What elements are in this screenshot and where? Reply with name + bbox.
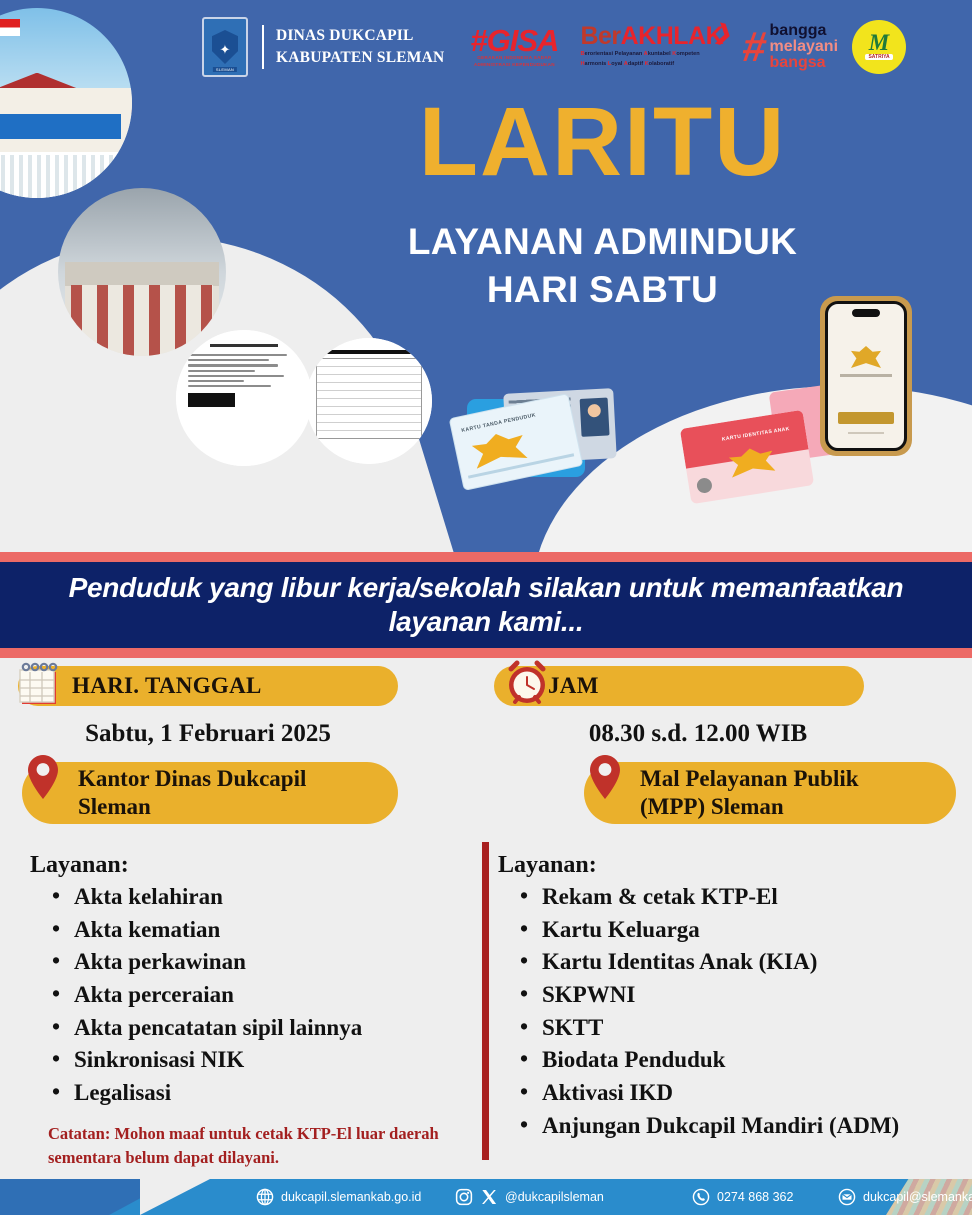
berakhlak-main: AKHLAK xyxy=(621,22,724,50)
gisa-wordmark: #GISA xyxy=(470,26,558,55)
phone-text: 0274 868 362 xyxy=(717,1190,793,1204)
list-item: Akta perkawinan xyxy=(30,946,478,979)
location-name-line-2: Sleman xyxy=(78,793,306,821)
time-label: JAM xyxy=(548,673,599,699)
berakhlak-values-1: Berorientasi Pelayanan Akuntabel Kompete… xyxy=(580,50,723,59)
sleman-identity: ✦ SLEMAN DINAS DUKCAPIL KABUPATEN SLEMAN xyxy=(202,17,444,77)
services-list: Akta kelahiran Akta kematian Akta perkaw… xyxy=(30,881,478,1110)
poster-title: LARITU xyxy=(330,96,875,188)
garuda-emblem-icon xyxy=(470,429,527,469)
list-item: Rekam & cetak KTP-El xyxy=(498,881,972,914)
date-row: HARI. TANGGAL xyxy=(8,660,478,712)
list-item: Kartu Identitas Anak (KIA) xyxy=(498,946,972,979)
hero-section: ✦ SLEMAN DINAS DUKCAPIL KABUPATEN SLEMAN… xyxy=(0,0,972,556)
map-pin-icon xyxy=(26,754,60,800)
banner-stripe-top xyxy=(0,552,972,562)
org-line-1: DINAS DUKCAPIL xyxy=(276,25,444,47)
calendar-icon xyxy=(16,660,62,708)
footer-phone[interactable]: 0274 868 362 xyxy=(692,1179,793,1215)
satriya-monogram: M xyxy=(869,34,889,52)
globe-icon xyxy=(256,1188,274,1206)
banner-stripe-bottom xyxy=(0,648,972,658)
services-list: Rekam & cetak KTP-El Kartu Keluarga Kart… xyxy=(498,881,972,1142)
footer-contact-bar: dukcapil.slemankab.go.id @dukcapilsleman… xyxy=(0,1179,972,1215)
footer-website[interactable]: dukcapil.slemankab.go.id xyxy=(256,1179,421,1215)
gisa-tagline-2: ADMINISTRASI KEPENDUDUKAN xyxy=(470,62,558,69)
satriya-seal-logo: M SATRIYA xyxy=(852,20,906,74)
banner-line-2: layanan kami... xyxy=(36,605,936,639)
column-mpp: JAM 08.30 s.d. 12.00 WIB Mal Pelayanan P… xyxy=(484,660,972,1142)
bangga-melayani-bangsa-logo: # bangga melayani bangsa xyxy=(743,23,838,72)
gisa-tagline-1: GERAKAN INDONESIA SADAR xyxy=(470,55,558,62)
ktp-note: Catatan: Mohon maaf untuk cetak KTP-El l… xyxy=(30,1122,478,1170)
map-pin-icon xyxy=(588,754,622,800)
bangga-line-2: melayani xyxy=(770,39,838,55)
sleman-crest-icon: ✦ SLEMAN xyxy=(202,17,248,77)
footer-wedge-cut xyxy=(140,1179,210,1215)
list-item: Akta kelahiran xyxy=(30,881,478,914)
garuda-emblem-icon xyxy=(851,346,881,368)
berakhlak-wordmark: BerAKHLAK xyxy=(580,25,723,49)
instagram-icon xyxy=(455,1188,473,1206)
list-item: Aktivasi IKD xyxy=(498,1077,972,1110)
list-item: Akta pencatatan sipil lainnya xyxy=(30,1012,478,1045)
banner-text: Penduduk yang libur kerja/sekolah silaka… xyxy=(36,571,936,639)
list-item: Akta perceraian xyxy=(30,979,478,1012)
gisa-logo: #GISA GERAKAN INDONESIA SADAR ADMINISTRA… xyxy=(470,26,558,69)
location-row-mpp: Mal Pelayanan Publik (MPP) Sleman xyxy=(484,762,972,836)
organization-name: DINAS DUKCAPIL KABUPATEN SLEMAN xyxy=(276,25,444,70)
phone-icon xyxy=(692,1188,710,1206)
poster-root: ✦ SLEMAN DINAS DUKCAPIL KABUPATEN SLEMAN… xyxy=(0,0,972,1215)
poster-subtitle: LAYANAN ADMINDUK HARI SABTU xyxy=(330,218,875,313)
location-name-line-1: Kantor Dinas Dukcapil xyxy=(78,765,306,793)
ikd-phone-mockup xyxy=(820,296,912,456)
satriya-label: SATRIYA xyxy=(865,54,892,60)
list-item: Kartu Keluarga xyxy=(498,914,972,947)
location-pill-dukcapil: Kantor Dinas Dukcapil Sleman xyxy=(22,762,398,824)
email-icon xyxy=(838,1188,856,1206)
crest-label: SLEMAN xyxy=(213,67,237,72)
location-name-line-2: (MPP) Sleman xyxy=(640,793,859,821)
subtitle-line-1: LAYANAN ADMINDUK xyxy=(330,218,875,265)
date-label: HARI. TANGGAL xyxy=(72,673,262,699)
berakhlak-logo: BerAKHLAK ❯ Berorientasi Pelayanan Akunt… xyxy=(580,25,723,69)
time-value: 08.30 s.d. 12.00 WIB xyxy=(498,720,898,748)
header-logo-bar: ✦ SLEMAN DINAS DUKCAPIL KABUPATEN SLEMAN… xyxy=(0,8,972,86)
hash-mark-icon: # xyxy=(741,30,769,64)
announcement-banner: Penduduk yang libur kerja/sekolah silaka… xyxy=(0,562,972,648)
list-item: Legalisasi xyxy=(30,1077,478,1110)
bangga-line-3: bangsa xyxy=(770,55,838,71)
phone-primary-button xyxy=(838,412,894,424)
column-dukcapil-office: HARI. TANGGAL Sabtu, 1 Februari 2025 Kan… xyxy=(8,660,478,1169)
note-line-1: Catatan: Mohon maaf untuk cetak KTP-El l… xyxy=(48,1122,478,1146)
photo-akta-document xyxy=(176,330,312,466)
list-item: Sinkronisasi NIK xyxy=(30,1044,478,1077)
bangga-line-1: bangga xyxy=(770,23,838,39)
services-mpp: Layanan: Rekam & cetak KTP-El Kartu Kelu… xyxy=(484,852,972,1142)
date-label-pill: HARI. TANGGAL xyxy=(18,666,398,706)
time-row: JAM xyxy=(484,660,972,712)
list-item: Biodata Penduduk xyxy=(498,1044,972,1077)
social-handle-text: @dukcapilsleman xyxy=(505,1190,604,1204)
location-row-dukcapil: Kantor Dinas Dukcapil Sleman xyxy=(8,762,478,836)
x-twitter-icon xyxy=(480,1188,498,1206)
services-heading: Layanan: xyxy=(498,852,972,879)
list-item: SKPWNI xyxy=(498,979,972,1012)
berakhlak-prefix: Ber xyxy=(580,22,620,50)
header-divider xyxy=(262,25,264,69)
subtitle-line-2: HARI SABTU xyxy=(330,266,875,313)
photo-kartu-keluarga-document xyxy=(306,338,432,464)
location-pill-mpp: Mal Pelayanan Publik (MPP) Sleman xyxy=(584,762,956,824)
list-item: Anjungan Dukcapil Mandiri (ADM) xyxy=(498,1110,972,1143)
org-line-2: KABUPATEN SLEMAN xyxy=(276,47,444,69)
list-item: SKTT xyxy=(498,1012,972,1045)
footer-email[interactable]: dukcapil@slemankab.go.id xyxy=(838,1179,972,1215)
list-item: Akta kematian xyxy=(30,914,478,947)
details-section: HARI. TANGGAL Sabtu, 1 Februari 2025 Kan… xyxy=(0,660,972,1180)
alarm-clock-icon xyxy=(504,660,550,708)
banner-line-1: Penduduk yang libur kerja/sekolah silaka… xyxy=(36,571,936,605)
email-text: dukcapil@slemankab.go.id xyxy=(863,1190,972,1204)
berakhlak-values-2: Harmonis Loyal Adaptif Kolaboratif xyxy=(580,60,723,69)
note-line-2: sementara belum dapat dilayani. xyxy=(48,1146,478,1170)
location-name-line-1: Mal Pelayanan Publik xyxy=(640,765,859,793)
date-value: Sabtu, 1 Februari 2025 xyxy=(8,720,408,748)
ktp-caption: KARTU TANDA PENDUDUK xyxy=(461,412,537,434)
footer-social[interactable]: @dukcapilsleman xyxy=(455,1179,604,1215)
services-heading: Layanan: xyxy=(30,852,478,879)
services-dukcapil: Layanan: Akta kelahiran Akta kematian Ak… xyxy=(8,852,478,1169)
website-text: dukcapil.slemankab.go.id xyxy=(281,1190,421,1204)
hero-title-block: LARITU LAYANAN ADMINDUK HARI SABTU xyxy=(330,96,875,313)
